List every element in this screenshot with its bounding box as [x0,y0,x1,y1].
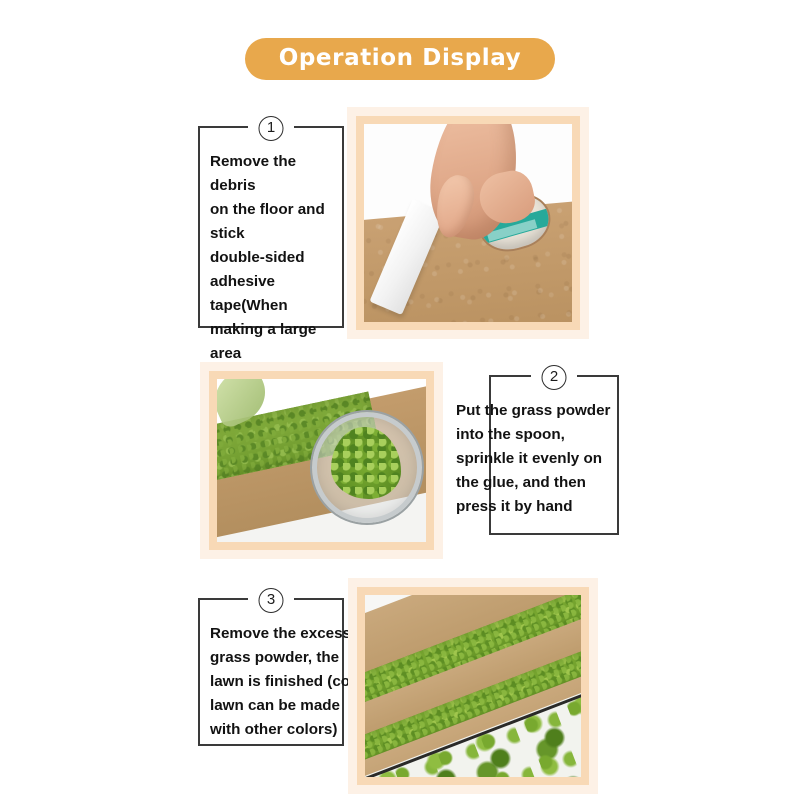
step-2-text: Put the grass powder into the spoon, spr… [446,377,664,529]
step-1-photo-frame [347,107,589,339]
step-3-photo-frame [348,578,598,794]
page-title-badge: Operation Display [245,38,556,80]
step-box-1: 1 Remove the debris on the floor and sti… [198,126,344,328]
page-header: Operation Display [0,38,800,80]
photo-2-sieve [312,412,422,523]
step-2-photo-frame [200,362,443,559]
step-3-photo [365,595,581,777]
step-1-photo-frame-inner [356,116,580,330]
step-box-3: 3 Remove the excess grass powder, the la… [198,598,344,746]
step-box-2: 2 Put the grass powder into the spoon, s… [489,375,619,535]
step-2-photo-frame-inner [209,371,434,550]
step-2-photo [217,379,426,542]
step-3-photo-frame-inner [357,587,589,785]
step-1-photo [364,124,572,322]
photo-2-grass-powder-mound [331,427,401,500]
step-1-number: 1 [259,116,284,141]
